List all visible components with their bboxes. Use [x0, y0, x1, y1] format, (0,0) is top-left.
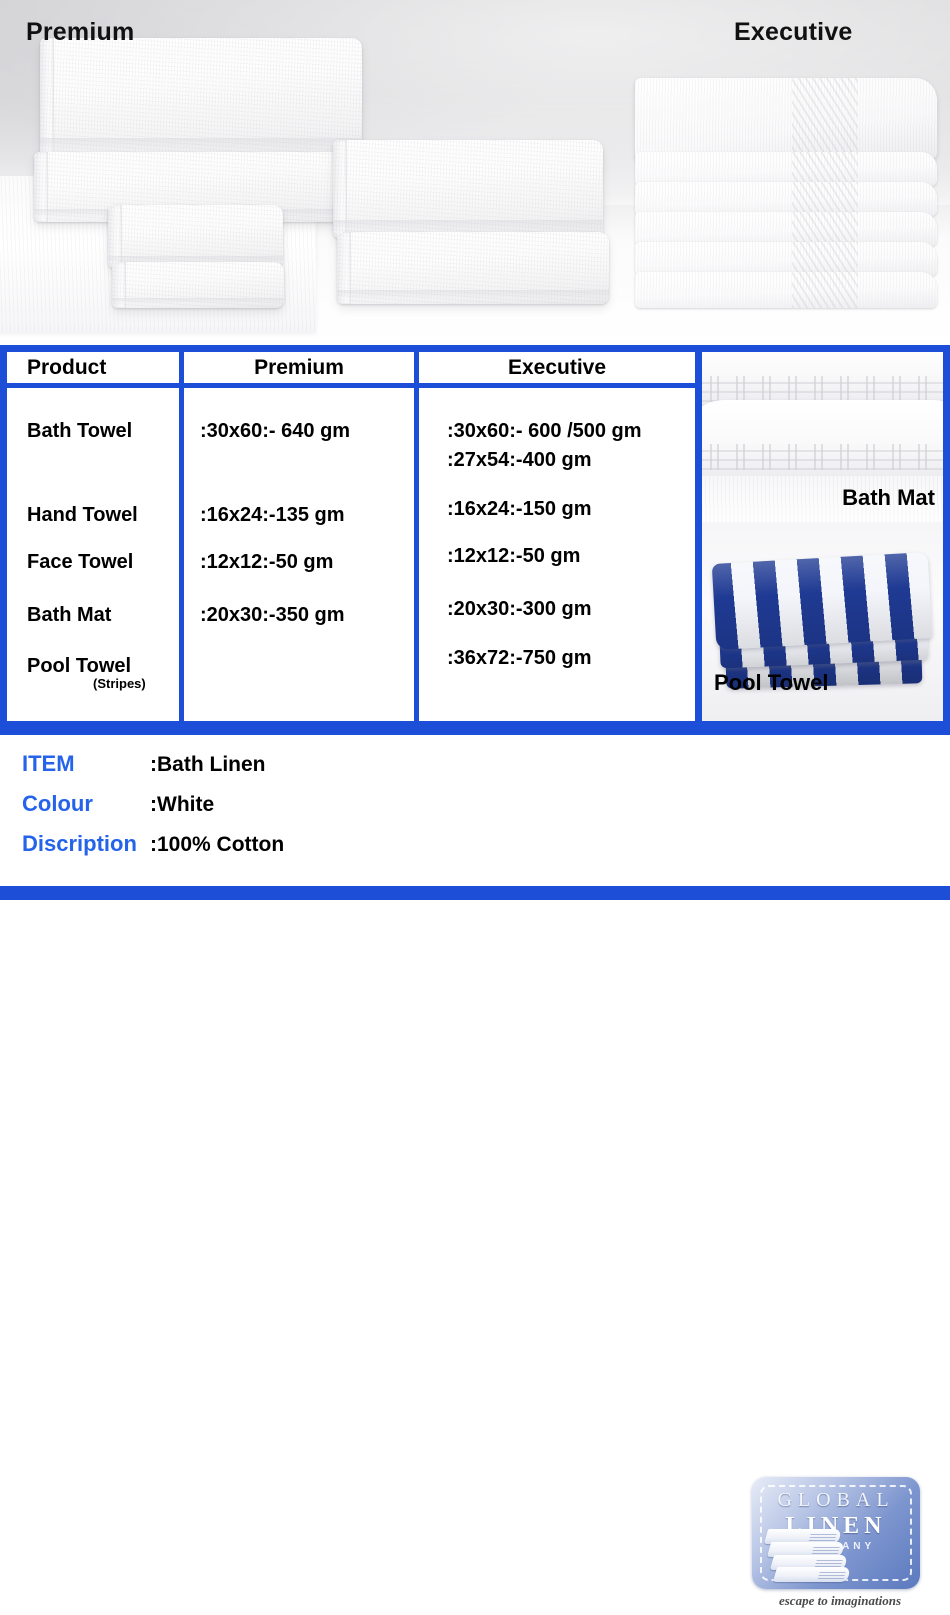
table-row: Face Towel	[7, 551, 179, 574]
executive-photo-label: Executive	[734, 18, 853, 47]
table-row: Bath Towel	[7, 420, 179, 443]
premium-bath-towel-top	[40, 38, 362, 158]
towel-band	[112, 298, 284, 304]
table-row: Bath Mat	[7, 604, 179, 627]
info-row-colour: Colour :White	[22, 791, 284, 831]
executive-towel-layer	[635, 152, 937, 186]
pool-towel-caption: Pool Towel	[714, 670, 828, 696]
table-cell-executive: :27x54:-400 gm	[419, 449, 695, 472]
towel-fold-edge	[34, 152, 48, 222]
table-cell-executive: :30x60:- 600 /500 gm	[419, 420, 695, 443]
premium-column: :30x60:- 640 gm :16x24:-135 gm :12x12:-5…	[179, 388, 414, 757]
product-name: Hand Towel	[27, 504, 138, 526]
column-header-premium: Premium	[179, 352, 414, 383]
info-row-item: ITEM :Bath Linen	[22, 751, 284, 791]
premium-face-towel-bottom	[112, 262, 284, 308]
towel-fold-edge	[40, 38, 54, 158]
product-name-sub: (Stripes)	[27, 676, 179, 691]
towel-dobby-border	[792, 182, 858, 216]
product-info-bar: ITEM :Bath Linen Colour :White Discripti…	[0, 728, 950, 886]
info-value-item: :Bath Linen	[150, 753, 266, 777]
info-value-description: :100% Cotton	[150, 833, 284, 857]
folded-linen-icon	[766, 1529, 848, 1583]
linen-sheet-lines	[809, 1532, 838, 1541]
executive-towel-layer	[635, 272, 937, 308]
linen-sheet-lines	[812, 1545, 841, 1554]
towel-band	[333, 220, 603, 232]
info-key-colour: Colour	[22, 791, 150, 817]
product-name: Pool Towel	[27, 655, 131, 677]
table-row: Hand Towel	[7, 504, 179, 527]
towel-dobby-border	[792, 152, 858, 186]
towel-dobby-border	[792, 78, 858, 160]
column-header-executive: Executive	[414, 352, 695, 383]
product-name: Face Towel	[27, 551, 133, 573]
premium-face-towel-top	[108, 205, 283, 268]
table-header-row: Product Premium Executive	[7, 352, 695, 388]
logo-text-global: GLOBAL	[752, 1489, 920, 1512]
info-value-colour: :White	[150, 793, 214, 817]
info-list: ITEM :Bath Linen Colour :White Discripti…	[22, 751, 284, 871]
company-logo: GLOBAL LINEN COMPANY escape to imaginati…	[742, 1477, 938, 1615]
right-image-panel: Bath Mat Pool Towel	[702, 345, 950, 728]
greek-key-pattern	[702, 444, 943, 470]
table-cell-executive: :12x12:-50 gm	[419, 545, 695, 568]
premium-hand-towel-bottom	[337, 232, 609, 304]
towel-fold-edge	[112, 262, 126, 308]
table-cell-premium: :20x30:-350 gm	[184, 604, 414, 627]
logo-tagline: escape to imaginations	[742, 1593, 938, 1609]
table-cell-premium: :12x12:-50 gm	[184, 551, 414, 574]
column-header-product: Product	[7, 352, 179, 383]
towel-band	[40, 138, 362, 152]
table-body: Bath Towel Hand Towel Face Towel Bath Ma…	[7, 388, 695, 757]
pool-towel-photo	[702, 522, 943, 728]
product-photo-banner: Premium Executive	[0, 0, 950, 345]
linen-sheet-lines	[815, 1558, 844, 1567]
info-key-description: Discription	[22, 831, 150, 857]
pool-towel-fold	[712, 552, 932, 650]
table-cell-executive: :16x24:-150 gm	[419, 498, 695, 521]
greek-key-pattern	[702, 376, 943, 402]
bath-mat-photo	[702, 352, 943, 547]
logo-card: GLOBAL LINEN COMPANY	[752, 1477, 920, 1589]
table-cell-premium: :16x24:-135 gm	[184, 504, 414, 527]
premium-photo-label: Premium	[26, 18, 134, 47]
table-row: Pool Towel (Stripes)	[7, 655, 179, 691]
table-cell-premium: :30x60:- 640 gm	[184, 420, 414, 443]
towel-dobby-border	[792, 212, 858, 246]
executive-towel-layer	[635, 242, 937, 276]
product-name: Bath Towel	[27, 420, 132, 442]
premium-hand-towel-top	[333, 140, 603, 238]
product-name: Bath Mat	[27, 604, 111, 626]
info-row-description: Discription :100% Cotton	[22, 831, 284, 871]
executive-towel-layer	[635, 212, 937, 246]
towel-dobby-border	[792, 272, 858, 308]
product-column: Bath Towel Hand Towel Face Towel Bath Ma…	[7, 388, 179, 757]
executive-towel-layer	[635, 78, 937, 160]
executive-towel-layer	[635, 182, 937, 216]
info-key-item: ITEM	[22, 751, 150, 777]
towel-fold-edge	[108, 205, 122, 268]
bottom-accent-bar	[0, 886, 950, 900]
executive-towel-stack	[635, 78, 937, 318]
towel-dobby-border	[792, 242, 858, 276]
towel-fold-edge	[337, 232, 351, 304]
linen-sheet-lines	[818, 1570, 847, 1579]
towel-fold-edge	[333, 140, 347, 238]
bath-mat-caption: Bath Mat	[842, 485, 935, 511]
table-cell-executive: :36x72:-750 gm	[419, 647, 695, 670]
linen-sheet	[773, 1567, 851, 1582]
executive-column: :30x60:- 600 /500 gm :27x54:-400 gm :16x…	[414, 388, 695, 757]
towel-band	[337, 290, 609, 299]
specification-table: Product Premium Executive Bath Towel Han…	[0, 345, 702, 728]
bath-mat-roll	[702, 400, 943, 482]
table-cell-executive: :20x30:-300 gm	[419, 598, 695, 621]
